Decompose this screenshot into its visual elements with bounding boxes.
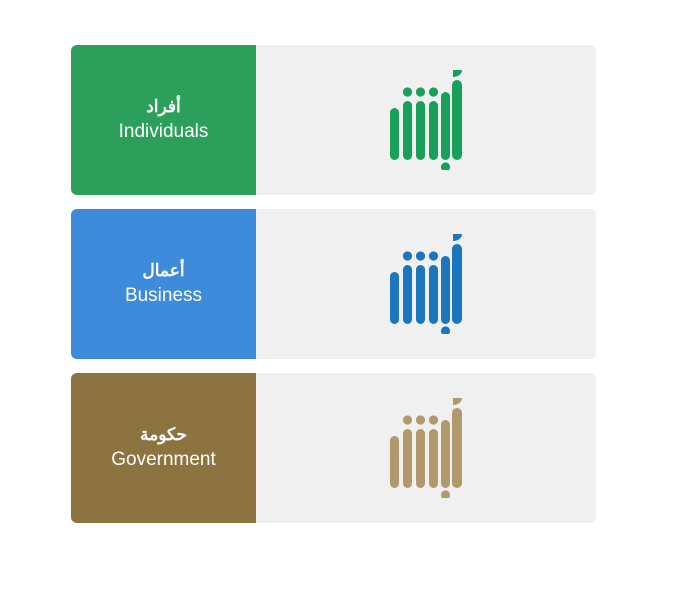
card-label-english: Individuals	[119, 119, 209, 145]
service-card-government[interactable]: حكومة Government	[71, 373, 596, 523]
card-logo-panel-business[interactable]	[256, 209, 596, 359]
service-cards-list: أفراد Individuals	[71, 45, 596, 537]
card-label-arabic: حكومة	[140, 424, 187, 446]
card-logo-panel-individuals[interactable]	[256, 45, 596, 195]
card-label-english: Government	[111, 447, 216, 473]
card-label-english: Business	[125, 283, 202, 309]
absher-logo-icon	[390, 234, 462, 334]
card-label-arabic: أفراد	[146, 96, 181, 118]
service-card-individuals[interactable]: أفراد Individuals	[71, 45, 596, 195]
card-label-panel-business[interactable]: أعمال Business	[71, 209, 256, 359]
service-card-business[interactable]: أعمال Business	[71, 209, 596, 359]
card-logo-panel-government[interactable]	[256, 373, 596, 523]
card-label-panel-individuals[interactable]: أفراد Individuals	[71, 45, 256, 195]
absher-logo-icon	[390, 398, 462, 498]
card-label-panel-government[interactable]: حكومة Government	[71, 373, 256, 523]
absher-logo-icon	[390, 70, 462, 170]
card-label-arabic: أعمال	[142, 260, 184, 282]
